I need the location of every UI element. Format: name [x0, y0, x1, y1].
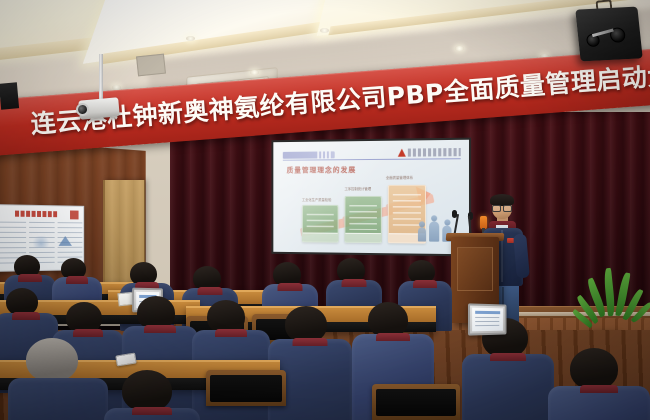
slide-header-rule	[283, 158, 461, 161]
attendee-collar	[73, 329, 103, 337]
attendee-collar	[215, 329, 247, 337]
projector-mount-pole	[99, 54, 103, 103]
wall-speaker-left-icon	[0, 82, 19, 109]
wall-speaker-icon	[575, 7, 642, 62]
projection-screen: 质量管理理念的发展 工业化生产质量检验 工序控制统计管理 全面质量	[273, 140, 469, 255]
slide-title: 质量管理理念的发展	[287, 165, 357, 175]
slide-step-caption: 工序控制统计管理	[344, 186, 371, 191]
attendee-head	[570, 348, 618, 390]
poster-triangle-icon	[59, 236, 72, 246]
slide-step-text-lines	[307, 214, 334, 230]
podium-front-panel	[457, 247, 493, 291]
projection-screen-frame: 质量管理理念的发展 工业化生产质量检验 工序控制统计管理 全面质量	[271, 138, 471, 257]
poster-seal-icon	[70, 210, 79, 219]
slide-header	[283, 146, 461, 161]
attendee-collar	[580, 385, 618, 393]
person-silhouette	[418, 227, 426, 241]
poster-title-text	[15, 211, 59, 218]
attendee-collar	[144, 325, 176, 333]
attendee-collar	[278, 283, 303, 291]
slide-step-footer	[345, 233, 380, 242]
poster-chart-icon	[31, 236, 51, 248]
glasses-icon	[492, 205, 512, 210]
chevron-right-icon	[317, 151, 331, 158]
attendee-collar	[66, 276, 88, 284]
downlight-icon	[250, 70, 259, 75]
slide-step-text-lines	[349, 205, 377, 230]
logo-mark-icon	[398, 149, 406, 157]
chair-back	[206, 370, 286, 406]
downlight-icon	[320, 28, 329, 33]
company-logo	[398, 147, 461, 158]
attendee-collar	[490, 353, 526, 361]
slide-step-block	[344, 196, 381, 243]
ceiling-access-panel	[136, 54, 166, 77]
slide-step-caption: 全面质量管理体系	[386, 175, 413, 180]
attendee-collar	[342, 279, 367, 287]
attendee-collar	[12, 312, 40, 320]
person-silhouette	[429, 221, 439, 241]
attendee-torso	[104, 408, 200, 420]
attendee-collar	[198, 287, 223, 295]
conference-photo: 连云港杜钟新奥神氨纶有限公司PBP全面质量管理启动大会 质量管理理念的发展	[0, 0, 650, 420]
slide-step-caption: 工业化生产质量检验	[302, 197, 331, 202]
slide-step-footer	[303, 232, 338, 241]
chair-back	[372, 384, 460, 420]
attendee-torso	[548, 386, 650, 420]
attendee-torso	[462, 354, 554, 420]
downlight-icon	[186, 36, 195, 41]
attendee-torso	[8, 378, 108, 420]
slide-step-block	[302, 205, 339, 243]
attendee-collar	[18, 274, 42, 282]
attendee-collar	[293, 338, 328, 346]
attendee-collar	[413, 280, 437, 288]
attendee-collar	[376, 333, 410, 341]
attendee-head	[26, 338, 78, 382]
laptop-screen	[472, 308, 503, 332]
attendee-collar	[132, 407, 172, 415]
downlight-icon	[455, 46, 464, 51]
attendee-head	[122, 370, 172, 412]
laptop[interactable]	[468, 303, 507, 335]
logo-wordmark	[408, 148, 461, 157]
